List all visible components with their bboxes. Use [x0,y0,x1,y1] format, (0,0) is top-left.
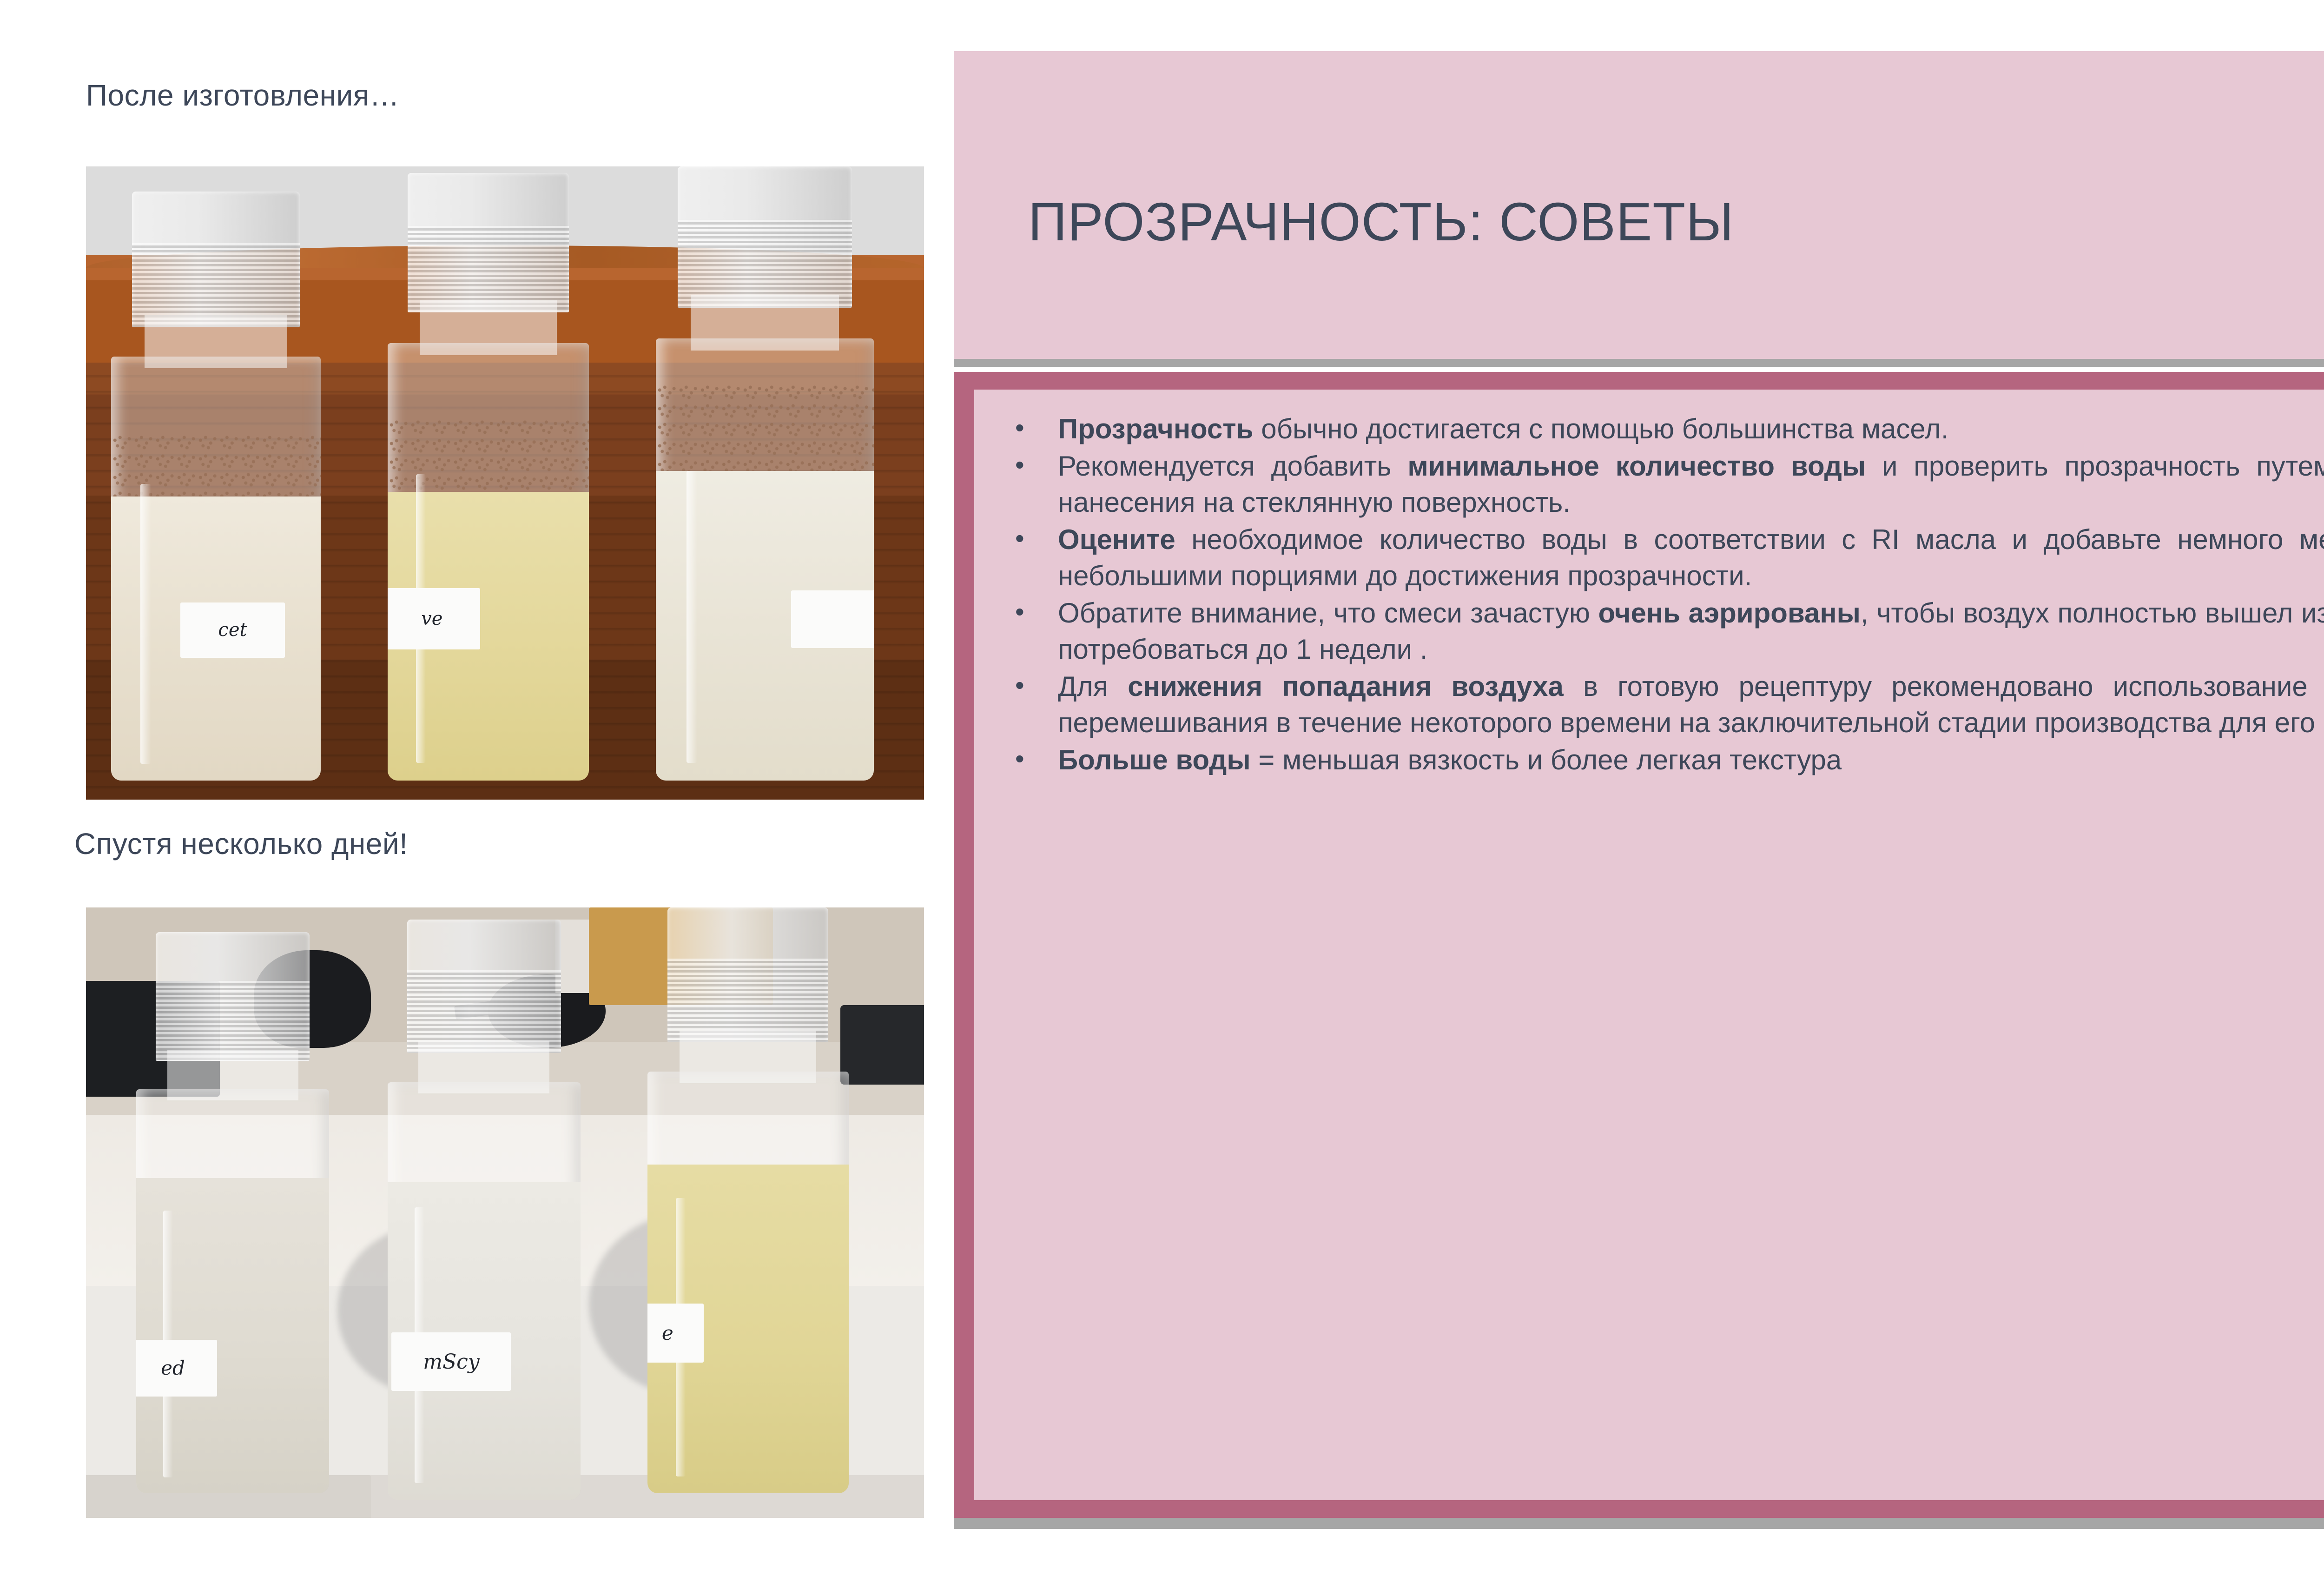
bottle-headspace [388,1082,581,1183]
bullet-item: Больше воды = меньшая вязкость и более л… [1007,742,2324,778]
bottle-label: cet [180,602,285,658]
bullet-emphasis: Прозрачность [1058,413,1254,444]
bullet-item: Для снижения попадания воздуха в готовую… [1007,669,2324,741]
bottle-label: тScy [391,1332,511,1391]
bullet-emphasis: минимальное количество воды [1407,450,1866,482]
bottle-headspace [647,1072,849,1165]
photo-bottles-fresh: cet ve [86,166,924,800]
bullet-text: Обратите внимание, что смеси зачастую [1058,597,1598,629]
bottle-fresh-2: ve [388,173,589,781]
title-band: ПРОЗРАЧНОСТЬ: СОВЕТЫ [954,51,2324,367]
bullet-item: Обратите внимание, что смеси зачастую оч… [1007,595,2324,668]
bottle-cap [678,166,852,308]
bottle-body: e [647,1072,849,1494]
bottle-cap [667,907,828,1042]
bottle-foam-layer [656,383,874,476]
page-title: ПРОЗРАЧНОСТЬ: СОВЕТЫ [1028,191,1734,253]
bottle-label: ed [136,1340,217,1397]
bullet-emphasis: очень аэрированы [1598,597,1861,629]
bullet-emphasis: Оцените [1058,524,1175,555]
bullet-item: Оцените необходимое количество воды в со… [1007,522,2324,594]
bottle-cap [408,173,568,313]
bottle-body: cet [111,357,321,781]
bullet-item: Прозрачность обычно достигается с помощь… [1007,411,2324,447]
bottle-highlight [687,471,697,763]
dark-object-blur [840,1005,924,1085]
bottle-fresh-1: cet [111,192,321,781]
bullet-text: обычно достигается с помощью большинства… [1254,413,1949,444]
bullet-text: = меньшая вязкость и более легкая тексту… [1251,744,1842,775]
bullet-emphasis: снижения попадания воздуха [1128,671,1564,702]
bullet-list: Прозрачность обычно достигается с помощь… [1007,411,2324,778]
bottle-body: ve [388,343,589,781]
bottle-highlight [140,484,151,764]
bullet-text: Рекомендуется добавить [1058,450,1407,482]
bottle-cap [407,920,561,1053]
bottle-headspace [136,1089,329,1178]
title-divider-rule [954,359,2324,367]
bottle-aged-3: e [647,907,849,1493]
bottle-aged-1: ed [136,932,329,1494]
bottle-label: ve [388,588,480,649]
bottle-aged-2: тScy [388,920,581,1499]
bullet-emphasis: Больше воды [1058,744,1251,775]
bullet-item: Рекомендуется добавить минимальное колич… [1007,448,2324,521]
content-inner: Прозрачность обычно достигается с помощь… [974,390,2324,1500]
bullet-text: Для [1058,671,1128,702]
bottle-cap [156,932,310,1061]
bottle-fresh-3 [656,166,874,781]
photo-bottles-aged: ed тScy e [86,907,924,1518]
bottle-body: ed [136,1089,329,1494]
bottle-body: тScy [388,1082,581,1500]
bottle-cap [132,192,300,327]
bottle-label: e [647,1304,704,1363]
caption-after-manufacture: После изготовления… [86,78,399,113]
bottle-body [656,338,874,781]
caption-after-several-days: Спустя несколько дней! [74,827,408,861]
bottle-label [791,590,874,648]
bullet-text: необходимое количество воды в соответств… [1058,524,2324,591]
content-box: Прозрачность обычно достигается с помощь… [954,372,2324,1518]
